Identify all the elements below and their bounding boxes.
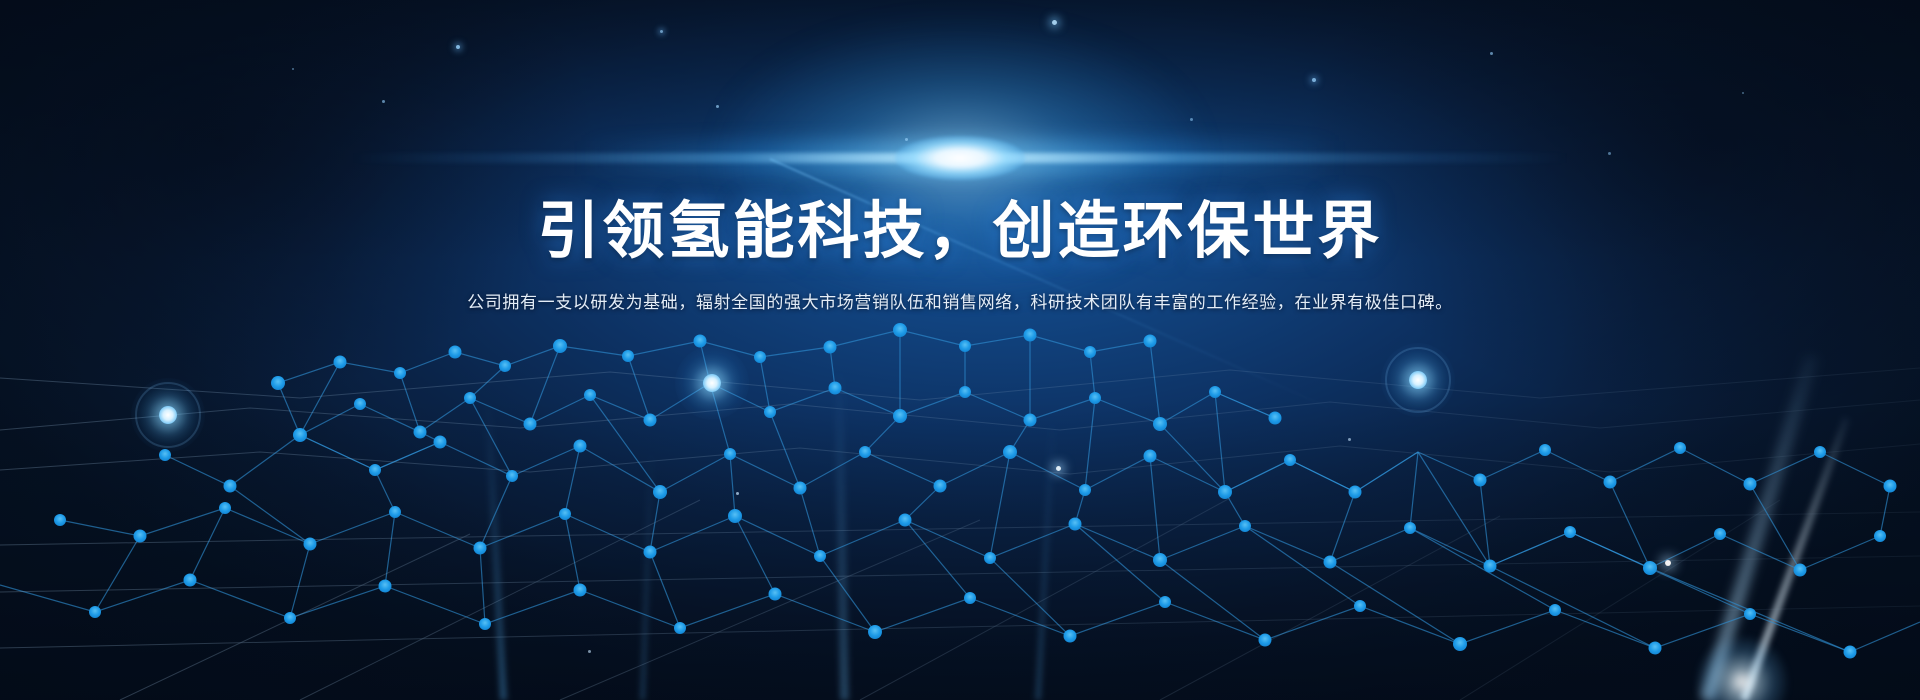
hero-banner: 引领氢能科技，创造环保世界 公司拥有一支以研发为基础，辐射全国的强大市场营销队伍… xyxy=(0,0,1920,700)
page-subtitle: 公司拥有一支以研发为基础，辐射全国的强大市场营销队伍和销售网络，科研技术团队有丰… xyxy=(0,267,1920,316)
page-title: 引领氢能科技，创造环保世界 xyxy=(0,0,1920,267)
hero-text-block: 引领氢能科技，创造环保世界 公司拥有一支以研发为基础，辐射全国的强大市场营销队伍… xyxy=(0,0,1920,316)
